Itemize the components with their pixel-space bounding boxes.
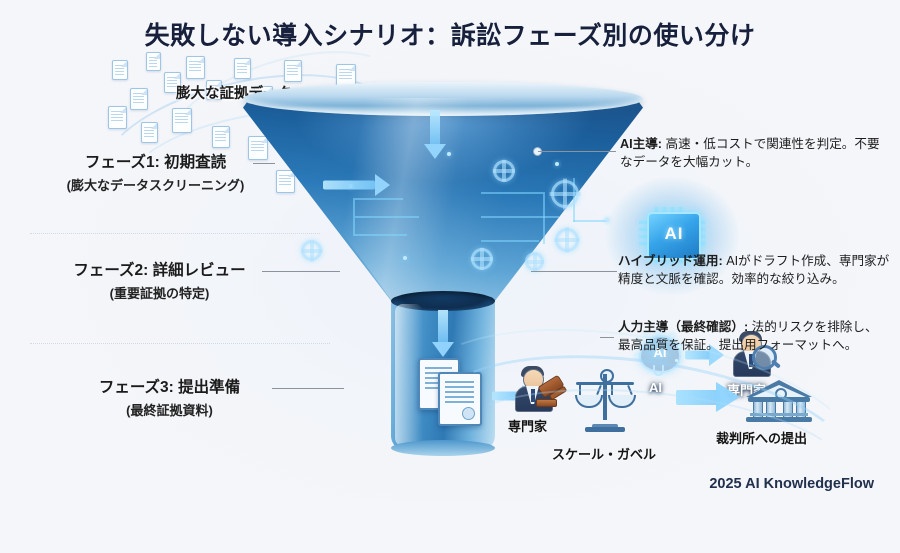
gear-icon	[525, 252, 544, 271]
note-1-heading: AI主導:	[620, 137, 662, 151]
infographic-canvas: 失敗しない導入シナリオ：訴訟フェーズ別の使い分け 膨大な証拠データ	[0, 0, 900, 502]
phase-1-subtitle: (膨大なデータスクリーニング)	[58, 175, 253, 194]
gear-icon	[471, 248, 493, 270]
phase-3-title: フェーズ3: 提出準備	[72, 375, 267, 397]
note-3-leader-line	[600, 337, 614, 338]
footer-credit: 2025 AI KnowledgeFlow	[709, 476, 874, 492]
evidence-doc-icon	[234, 58, 251, 79]
evidence-doc-icon	[284, 60, 302, 82]
funnel-down-arrow-top	[423, 110, 447, 158]
note-2-leader-line	[531, 271, 617, 272]
note-ai-led: AI主導: 高速・低コストで関連性を判定。不要なデータを大幅カット。	[620, 135, 892, 172]
evidence-doc-icon	[108, 106, 127, 129]
evidence-doc-icon	[212, 126, 230, 148]
phase-1-title: フェーズ1: 初期査読	[58, 150, 253, 172]
note-1-leader-line	[538, 151, 616, 152]
phase-2-leader-line	[262, 271, 340, 272]
gear-icon	[551, 180, 579, 208]
evidence-doc-icon	[186, 56, 205, 79]
page-title: 失敗しない導入シナリオ：訴訟フェーズ別の使い分け	[0, 16, 900, 52]
intake-arrow	[323, 174, 389, 196]
note-3-heading: 人力主導（最終確認）:	[618, 320, 748, 334]
note-human-led: 人力主導（最終確認）: 法的リスクを排除し、最高品質を保証。提出用フォーマットへ…	[618, 318, 890, 355]
note-2-heading: ハイブリッド運用:	[618, 254, 723, 268]
evidence-doc-icon	[141, 122, 158, 143]
phase-3-subtitle: (最終証拠資料)	[72, 400, 267, 419]
evidence-doc-icon	[130, 88, 148, 110]
chip-label: AI	[649, 224, 699, 244]
phase-label-1: フェーズ1: 初期査読 (膨大なデータスクリーニング)	[58, 150, 253, 194]
gear-icon	[493, 160, 515, 182]
evidence-doc-icon	[112, 60, 128, 80]
phase-label-2: フェーズ2: 詳細レビュー (重要証拠の特定)	[62, 258, 257, 302]
phase-1-leader-line	[253, 163, 275, 164]
phase-2-subtitle: (重要証拠の特定)	[62, 283, 257, 302]
phase-2-title: フェーズ2: 詳細レビュー	[62, 258, 257, 280]
gear-icon	[555, 228, 579, 252]
gear-icon	[301, 240, 322, 261]
phase-3-leader-line	[272, 388, 344, 389]
evidence-doc-icon	[172, 108, 192, 133]
phase-label-3: フェーズ3: 提出準備 (最終証拠資料)	[72, 375, 267, 419]
evidence-doc-icon	[146, 52, 161, 71]
note-hybrid: ハイブリッド運用: AIがドラフト作成、専門家が精度と文脈を確認。効率的な絞り込…	[618, 252, 890, 289]
